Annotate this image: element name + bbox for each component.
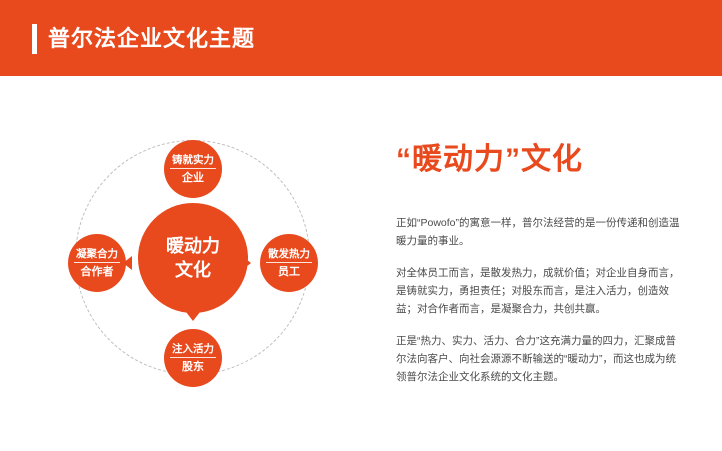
arrow-down-icon <box>186 312 200 321</box>
page-header: 普尔法企业文化主题 <box>0 0 722 76</box>
content-paragraph-1: 正如“Powofo”的寓意一样，普尔法经营的是一份传递和创造温暖力量的事业。 <box>396 214 686 250</box>
diagram-node-shareholder[interactable]: 注入活力 股东 <box>164 329 222 387</box>
node-subject-bottom: 股东 <box>182 360 204 374</box>
node-title-bottom: 注入活力 <box>172 343 214 356</box>
content-paragraph-3: 正是“热力、实力、活力、合力”这充满力量的四力，汇聚成普尔法向客户、向社会源源不… <box>396 332 686 386</box>
culture-diagram: 暖动力 文化 铸就实力 企业 散发热力 员工 注入活力 股东 凝聚合力 合作者 <box>20 110 360 410</box>
page-title: 普尔法企业文化主题 <box>48 24 255 54</box>
node-divider <box>74 262 120 263</box>
center-label-line1: 暖动力 <box>166 234 220 258</box>
node-divider <box>266 262 312 263</box>
diagram-node-partner[interactable]: 凝聚合力 合作者 <box>68 234 126 292</box>
node-divider <box>170 168 216 169</box>
header-accent-bar <box>32 24 37 54</box>
node-title-right: 散发热力 <box>268 248 310 261</box>
node-title-left: 凝聚合力 <box>76 248 118 261</box>
node-subject-top: 企业 <box>182 171 204 185</box>
diagram-node-enterprise[interactable]: 铸就实力 企业 <box>164 140 222 198</box>
diagram-center-node[interactable]: 暖动力 文化 <box>138 203 248 313</box>
node-subject-right: 员工 <box>278 265 300 279</box>
node-subject-left: 合作者 <box>81 265 114 279</box>
content-title: “暖动力”文化 <box>396 140 696 180</box>
content-panel: “暖动力”文化 正如“Powofo”的寓意一样，普尔法经营的是一份传递和创造温暖… <box>396 140 696 386</box>
node-title-top: 铸就实力 <box>172 154 214 167</box>
center-label-line2: 文化 <box>166 258 220 282</box>
diagram-node-employee[interactable]: 散发热力 员工 <box>260 234 318 292</box>
content-paragraph-2: 对全体员工而言，是散发热力，成就价值；对企业自身而言，是铸就实力，勇担责任；对股… <box>396 264 686 318</box>
node-divider <box>170 357 216 358</box>
